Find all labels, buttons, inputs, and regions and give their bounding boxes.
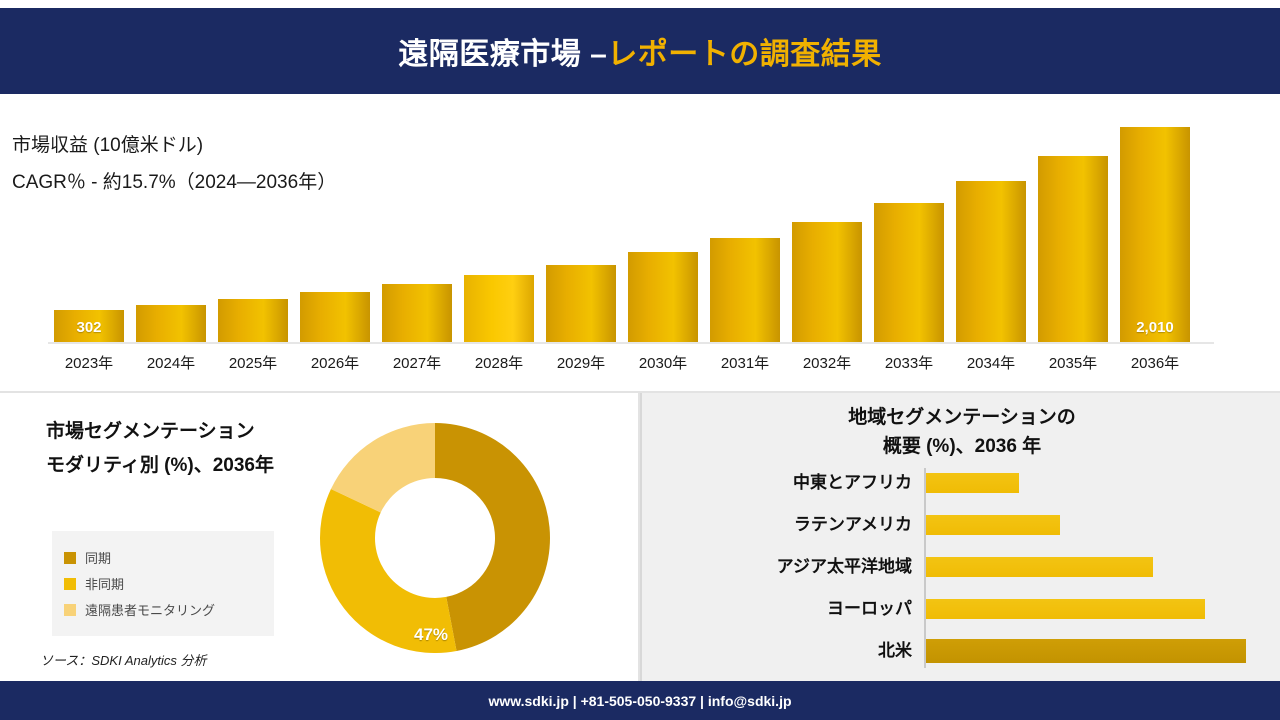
bar-category-label: 2024年	[130, 352, 212, 373]
pie-legend: 同期非同期遠隔患者モニタリング	[52, 531, 274, 636]
bar-category-label: 2027年	[376, 352, 458, 373]
revenue-bar-chart: 3022023年2024年2025年2026年2027年2028年2029年20…	[48, 106, 1238, 386]
legend-swatch	[64, 552, 76, 564]
bar-column	[212, 299, 294, 342]
region-bar-series: 中東とアフリカラテンアメリカアジア太平洋地域ヨーロッパ31%北米	[642, 468, 1280, 668]
footer-banner: www.sdki.jp | +81-505-050-9337 | info@sd…	[0, 681, 1280, 720]
donut-slice	[435, 423, 550, 651]
donut-chart: 47%	[310, 423, 560, 653]
bar-category-label: 2030年	[622, 352, 704, 373]
region-chart-title: 地域セグメンテーションの 概要 (%)、2036 年	[642, 403, 1280, 461]
region-title-line2: 概要 (%)、2036 年	[642, 432, 1280, 461]
bar	[710, 238, 780, 342]
region-title-line1: 地域セグメンテーションの	[642, 403, 1280, 432]
bar-category-label: 2034年	[950, 352, 1032, 373]
bar: 302	[54, 310, 124, 342]
legend-label: 非同期	[85, 574, 124, 593]
bar-column: 2,010	[1114, 127, 1196, 342]
header-banner: 遠隔医療市場 –レポートの調査結果	[0, 8, 1280, 94]
page-title-main: 遠隔医療市場 –	[398, 38, 607, 71]
bar	[874, 203, 944, 342]
modality-segmentation-panel: 市場セグメンテーション モダリティ別 (%)、2036年 同期非同期遠隔患者モニ…	[0, 393, 640, 681]
bar-column	[130, 305, 212, 342]
legend-item: 遠隔患者モニタリング	[64, 600, 262, 619]
pie-chart-title: 市場セグメンテーション モダリティ別 (%)、2036年	[46, 415, 346, 483]
bar-category-label: 2036年	[1114, 352, 1196, 373]
donut-primary-value: 47%	[414, 625, 448, 645]
bar	[792, 222, 862, 342]
region-label: 中東とアフリカ	[642, 468, 912, 498]
page-title-accent: レポートの調査結果	[607, 38, 882, 71]
bar-category-label: 2035年	[1032, 352, 1114, 373]
bar-series: 3022023年2024年2025年2026年2027年2028年2029年20…	[48, 106, 1238, 342]
bar-category-label: 2033年	[868, 352, 950, 373]
region-bar	[926, 473, 1019, 493]
bar-category-label: 2026年	[294, 352, 376, 373]
bar-column	[704, 238, 786, 342]
pie-title-line2: モダリティ別 (%)、2036年	[46, 449, 346, 483]
legend-item: 非同期	[64, 574, 262, 593]
region-bar	[926, 639, 1246, 663]
region-label: ヨーロッパ	[642, 594, 912, 624]
bottom-panels: 市場セグメンテーション モダリティ別 (%)、2036年 同期非同期遠隔患者モニ…	[0, 393, 1280, 681]
bar	[956, 181, 1026, 342]
pie-title-line1: 市場セグメンテーション	[46, 415, 346, 449]
bar: 2,010	[1120, 127, 1190, 342]
region-row: ラテンアメリカ	[642, 510, 1280, 540]
region-label: ラテンアメリカ	[642, 510, 912, 540]
region-row: 中東とアフリカ	[642, 468, 1280, 498]
bar	[628, 252, 698, 342]
bar-column	[376, 284, 458, 342]
revenue-chart-panel: 市場収益 (10億米ドル) CAGR％ - 約15.7%（2024―2036年）…	[0, 94, 1280, 393]
bar-category-label: 2032年	[786, 352, 868, 373]
legend-label: 同期	[85, 548, 111, 567]
bar-column	[458, 275, 540, 342]
legend-swatch	[64, 604, 76, 616]
region-row: ヨーロッパ	[642, 594, 1280, 624]
region-row: 31%北米	[642, 636, 1280, 666]
bar-category-label: 2023年	[48, 352, 130, 373]
bar	[382, 284, 452, 342]
region-bar	[926, 599, 1205, 619]
bar-category-label: 2025年	[212, 352, 294, 373]
bar-category-label: 2031年	[704, 352, 786, 373]
bar-column	[294, 292, 376, 342]
bar-value-label: 2,010	[1120, 319, 1190, 336]
region-label: 北米	[642, 636, 912, 666]
bar-column	[950, 181, 1032, 342]
bar-value-label: 302	[54, 319, 124, 336]
bar-category-label: 2029年	[540, 352, 622, 373]
bar	[218, 299, 288, 342]
bar-chart-baseline	[48, 342, 1214, 344]
source-note: ソース：SDKI Analytics 分析	[40, 650, 206, 669]
bar-column	[868, 203, 950, 342]
region-bar	[926, 515, 1060, 535]
page-title: 遠隔医療市場 –レポートの調査結果	[398, 29, 882, 73]
bar-column	[540, 265, 622, 342]
bar-category-label: 2028年	[458, 352, 540, 373]
region-segmentation-panel: 地域セグメンテーションの 概要 (%)、2036 年 中東とアフリカラテンアメリ…	[640, 393, 1280, 681]
region-label: アジア太平洋地域	[642, 552, 912, 582]
region-row: アジア太平洋地域	[642, 552, 1280, 582]
legend-label: 遠隔患者モニタリング	[85, 600, 215, 619]
bar-column	[786, 222, 868, 342]
bar	[546, 265, 616, 342]
bar-column	[1032, 156, 1114, 342]
donut-svg	[310, 423, 560, 653]
bar	[1038, 156, 1108, 342]
bar-column	[622, 252, 704, 342]
legend-item: 同期	[64, 548, 262, 567]
bar	[300, 292, 370, 342]
bar	[464, 275, 534, 342]
region-bar	[926, 557, 1153, 577]
bar	[136, 305, 206, 342]
legend-swatch	[64, 578, 76, 590]
footer-contact: www.sdki.jp | +81-505-050-9337 | info@sd…	[488, 693, 791, 709]
slide-root: 遠隔医療市場 –レポートの調査結果 市場収益 (10億米ドル) CAGR％ - …	[0, 0, 1280, 720]
bar-column: 302	[48, 310, 130, 342]
